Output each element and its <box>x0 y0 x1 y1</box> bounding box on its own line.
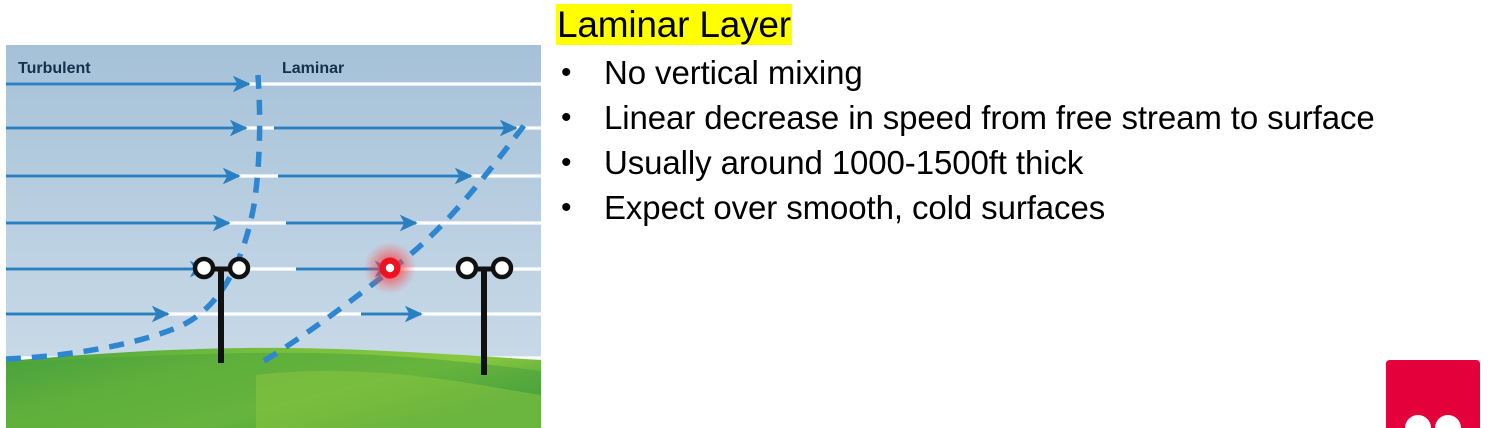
page-title-highlight: Laminar Layer <box>556 4 792 45</box>
boundary-layer-diagram: Turbulent Laminar <box>6 45 541 428</box>
logo-mark <box>1383 358 1483 428</box>
list-item-label: Expect over smooth, cold surfaces <box>604 189 1105 226</box>
bullet-icon: • <box>561 50 581 95</box>
list-item: •Usually around 1000-1500ft thick <box>556 140 1502 185</box>
list-item-label: Linear decrease in speed from free strea… <box>604 99 1375 136</box>
label-laminar: Laminar <box>282 60 344 77</box>
logo-icon <box>1383 358 1483 428</box>
list-item-label: Usually around 1000-1500ft thick <box>604 144 1083 181</box>
logo-shape <box>1386 360 1480 428</box>
bullet-icon: • <box>561 140 581 185</box>
list-item: •Expect over smooth, cold surfaces <box>556 185 1502 230</box>
list-item: •No vertical mixing <box>556 50 1502 95</box>
bullet-icon: • <box>561 95 581 140</box>
red-measurement-marker <box>364 242 416 294</box>
label-turbulent: Turbulent <box>18 60 91 77</box>
list-item-label: No vertical mixing <box>604 54 863 91</box>
diagram-canvas: Turbulent Laminar <box>6 45 541 428</box>
list-item: •Linear decrease in speed from free stre… <box>556 95 1502 140</box>
slide-content: Laminar Layer •No vertical mixing •Linea… <box>556 0 1502 428</box>
page-title: Laminar Layer <box>556 4 792 45</box>
bullet-list: •No vertical mixing •Linear decrease in … <box>556 50 1502 230</box>
bullet-icon: • <box>561 185 581 230</box>
